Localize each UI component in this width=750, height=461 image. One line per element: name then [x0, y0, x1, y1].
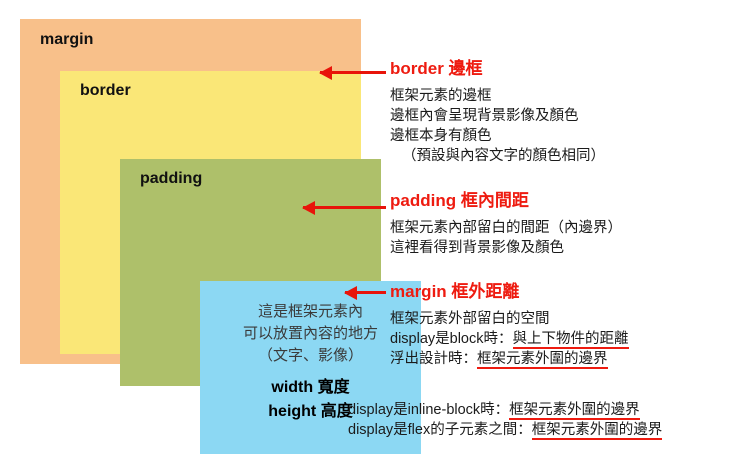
annotation-line: （預設與內容文字的顏色相同） — [390, 146, 605, 166]
border-pointer-arrow-icon — [320, 71, 386, 74]
annotation-line: 框架元素內部留白的間距（內邊界） — [390, 218, 622, 238]
annotation-line: 邊框內會呈現背景影像及顏色 — [390, 106, 605, 126]
annotation-border: border 邊框 框架元素的邊框 邊框內會呈現背景影像及顏色 邊框本身有顏色 … — [390, 60, 605, 166]
annotation-padding-body: 框架元素內部留白的間距（內邊界） 這裡看得到背景影像及顏色 — [390, 218, 622, 258]
annotation-line-float: 浮出設計時：框架元素外圍的邊界 — [390, 349, 629, 369]
padding-box: padding 這是框架元素內 可以放置內容的地方 （文字、影像） width … — [120, 159, 381, 386]
content-width-label: width 寬度 — [271, 376, 349, 400]
annotation-border-body: 框架元素的邊框 邊框內會呈現背景影像及顏色 邊框本身有顏色 （預設與內容文字的顏… — [390, 86, 605, 166]
annotation-line: 邊框本身有顏色 — [390, 126, 605, 146]
content-text-line: 這是框架元素內 — [258, 301, 363, 323]
content-text-line: 可以放置內容的地方 — [243, 323, 378, 345]
annotation-padding: padding 框內間距 框架元素內部留白的間距（內邊界） 這裡看得到背景影像及… — [390, 192, 622, 258]
annotation-line-prefix: display是block時： — [390, 331, 513, 347]
annotation-line: 這裡看得到背景影像及顏色 — [390, 238, 622, 258]
annotation-margin-title: margin 框外距離 — [390, 283, 629, 302]
annotation-line: 框架元素的邊框 — [390, 86, 605, 106]
annotation-line-prefix: 浮出設計時： — [390, 351, 477, 367]
annotation-line-underlined: 框架元素外圍的邊界 — [532, 422, 663, 440]
annotation-line-underlined: 與上下物件的距離 — [513, 331, 629, 349]
annotation-line-display-block: display是block時：與上下物件的距離 — [390, 329, 629, 349]
bottom-notes: display是inline-block時：框架元素外圍的邊界 display是… — [348, 400, 662, 440]
content-text-line: （文字、影像） — [258, 345, 363, 367]
padding-box-label: padding — [140, 171, 202, 187]
annotation-line-prefix: display是inline-block時： — [348, 402, 509, 418]
annotation-padding-title: padding 框內間距 — [390, 192, 622, 211]
annotation-border-title: border 邊框 — [390, 60, 605, 79]
margin-box: margin border padding 這是框架元素內 可以放置內容的地方 … — [20, 19, 361, 364]
annotation-line-underlined: 框架元素外圍的邊界 — [477, 351, 608, 369]
padding-pointer-arrow-icon — [303, 206, 386, 209]
annotation-line-underlined: 框架元素外圍的邊界 — [509, 402, 640, 420]
box-model-diagram-canvas: margin border padding 這是框架元素內 可以放置內容的地方 … — [0, 0, 750, 461]
annotation-line-prefix: display是flex的子元素之間： — [348, 422, 532, 438]
border-box: border padding 這是框架元素內 可以放置內容的地方 （文字、影像）… — [60, 71, 361, 354]
annotation-line-inline-block: display是inline-block時：框架元素外圍的邊界 — [348, 400, 662, 420]
annotation-margin: margin 框外距離 框架元素外部留白的空間 display是block時：與… — [390, 283, 629, 369]
border-box-label: border — [80, 83, 131, 99]
annotation-margin-body: 框架元素外部留白的空間 display是block時：與上下物件的距離 浮出設計… — [390, 309, 629, 369]
annotation-line: 框架元素外部留白的空間 — [390, 309, 629, 329]
annotation-line-flex: display是flex的子元素之間：框架元素外圍的邊界 — [348, 420, 662, 440]
margin-box-label: margin — [40, 32, 93, 48]
margin-pointer-arrow-icon — [345, 291, 386, 294]
content-height-label: height 高度 — [268, 400, 352, 424]
